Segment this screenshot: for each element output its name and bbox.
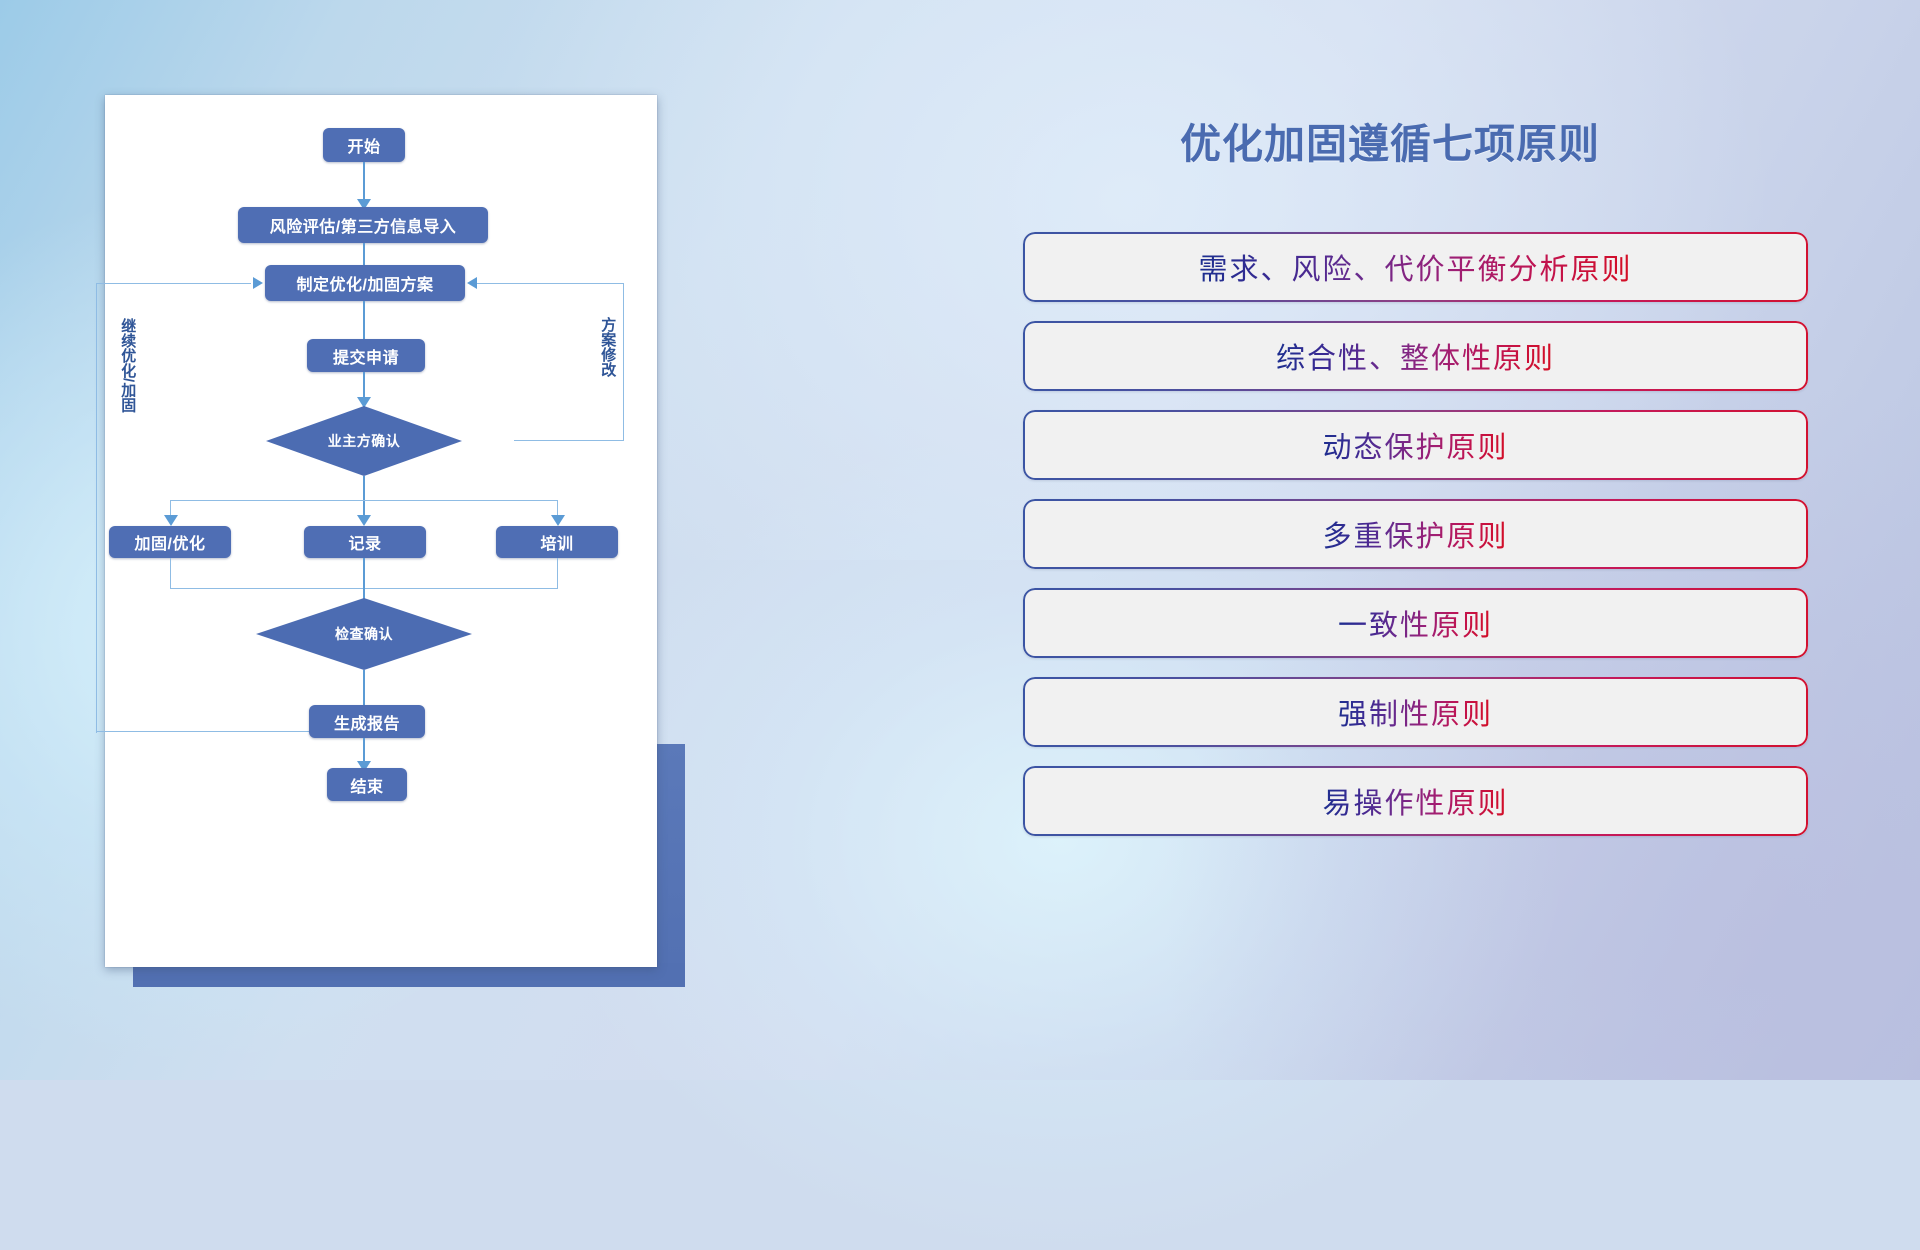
principles-list: 需求、风险、代价平衡分析原则 综合性、整体性原则 动态保护原则 多重保护原则 一… [1023, 232, 1808, 855]
principle-item-2-label: 综合性、整体性原则 [1276, 335, 1555, 377]
edge-split-left-arrow [164, 515, 178, 526]
flow-node-training[interactable]: 培训 [496, 526, 618, 558]
edge-split-mid-arrow [357, 515, 371, 526]
flowchart: 开始 风险评估/第三方信息导入 制定优化/加固方案 继续优化/加固 方案修改 提… [105, 95, 657, 967]
edge-label-continue-optimize: 继续优化/加固 [120, 318, 135, 412]
edge-split-bar [170, 500, 558, 501]
flow-node-make-plan[interactable]: 制定优化/加固方案 [265, 265, 465, 301]
principle-item-3[interactable]: 动态保护原则 [1023, 410, 1808, 480]
flow-node-record-label: 记录 [348, 530, 381, 554]
flow-node-training-label: 培训 [540, 530, 573, 554]
principle-item-6-label: 强制性原则 [1338, 691, 1493, 733]
flow-node-submit-application-label: 提交申请 [333, 344, 399, 368]
principle-item-5-label: 一致性原则 [1338, 602, 1493, 644]
flow-node-record[interactable]: 记录 [304, 526, 426, 558]
edge-merge-left [170, 558, 171, 589]
principle-item-7-label: 易操作性原则 [1322, 780, 1508, 822]
flow-node-reinforce-optimize-label: 加固/优化 [135, 530, 206, 554]
edge-left-loop-vertical [96, 283, 97, 733]
principle-item-4-label: 多重保护原则 [1322, 513, 1508, 555]
flow-node-owner-confirm[interactable]: 业主方确认 [266, 406, 462, 476]
principle-item-1[interactable]: 需求、风险、代价平衡分析原则 [1023, 232, 1808, 302]
flow-node-make-plan-label: 制定优化/加固方案 [297, 271, 434, 295]
principle-item-2[interactable]: 综合性、整体性原则 [1023, 321, 1808, 391]
edge-left-loop-top [96, 283, 251, 284]
edge-left-loop-bottom [96, 731, 311, 732]
principle-item-5[interactable]: 一致性原则 [1023, 588, 1808, 658]
edge-split-right-arrow [551, 515, 565, 526]
flow-node-start[interactable]: 开始 [323, 128, 405, 162]
principle-item-1-label: 需求、风险、代价平衡分析原则 [1198, 246, 1632, 288]
flow-node-check-confirm-label: 检查确认 [335, 624, 393, 644]
principle-item-3-label: 动态保护原则 [1322, 424, 1508, 466]
edge-merge-right [557, 558, 558, 589]
edge-right-loop-bottom [514, 440, 624, 441]
flow-node-check-confirm[interactable]: 检查确认 [256, 598, 472, 670]
flow-node-risk-assessment[interactable]: 风险评估/第三方信息导入 [238, 207, 488, 243]
edge-label-plan-revision: 方案修改 [600, 317, 615, 377]
edge-left-loop-arrow [253, 277, 263, 289]
edge-right-loop-vertical [623, 283, 624, 441]
flow-node-start-label: 开始 [347, 133, 380, 157]
flow-node-reinforce-optimize[interactable]: 加固/优化 [109, 526, 231, 558]
principle-item-4[interactable]: 多重保护原则 [1023, 499, 1808, 569]
edge-right-loop-arrow [467, 277, 477, 289]
flow-node-generate-report[interactable]: 生成报告 [309, 705, 425, 738]
principle-item-7[interactable]: 易操作性原则 [1023, 766, 1808, 836]
edge-right-loop-top [477, 283, 624, 284]
flow-node-end-label: 结束 [350, 773, 383, 797]
flow-node-end[interactable]: 结束 [327, 768, 407, 801]
flow-node-submit-application[interactable]: 提交申请 [307, 339, 425, 372]
principle-item-6[interactable]: 强制性原则 [1023, 677, 1808, 747]
flow-node-owner-confirm-label: 业主方确认 [328, 431, 401, 451]
flow-node-generate-report-label: 生成报告 [334, 710, 400, 734]
page-title: 优化加固遵循七项原则 [1020, 110, 1760, 170]
flow-node-risk-assessment-label: 风险评估/第三方信息导入 [270, 213, 456, 237]
